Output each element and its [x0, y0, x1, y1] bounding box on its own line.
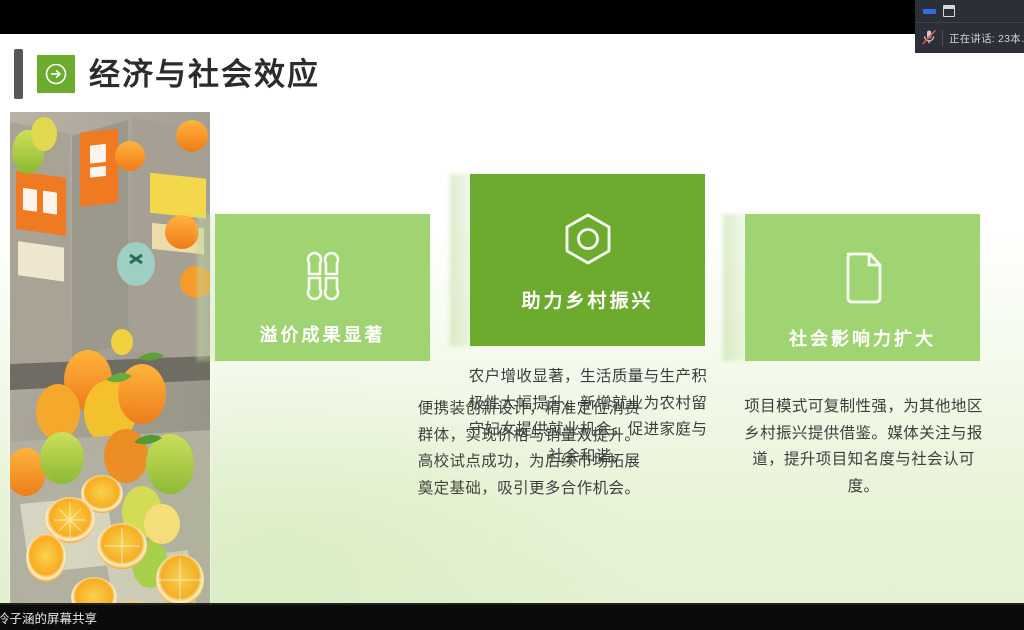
document-page-icon — [835, 248, 891, 308]
shared-screen: 经济与社会效应 — [0, 0, 1024, 630]
card-rural-revitalization[interactable]: 助力乡村振兴 农户增收显著，生活质量与生产积极性大幅提升。新增就业为农村留守妇女… — [470, 174, 705, 346]
card-body-text: 项目模式可复制性强，为其他地区乡村振兴提供借鉴。媒体关注与报道，提升项目知名度与… — [740, 394, 987, 501]
hexagon-gear-icon — [557, 208, 619, 270]
card-title: 社会影响力扩大 — [789, 330, 936, 350]
effect-cards: 溢价成果显著 便携装创新设计，精准定位消费群体，实现价格与销量双提升。高校试点成… — [0, 34, 1024, 605]
screen-share-label: 冷子涵的屏幕共享 — [0, 608, 97, 627]
arrow-right-circle-icon — [37, 55, 75, 93]
top-letterbox-band — [0, 0, 1024, 34]
heading-accent-bar — [14, 49, 23, 99]
slide-heading: 经济与社会效应 — [14, 49, 320, 99]
card-title: 助力乡村振兴 — [521, 292, 653, 313]
minimize-icon[interactable] — [923, 9, 936, 14]
four-leaf-clover-icon — [295, 248, 351, 304]
card-premium-results[interactable]: 溢价成果显著 便携装创新设计，精准定位消费群体，实现价格与销量双提升。高校试点成… — [215, 214, 430, 361]
meeting-floating-panel[interactable]: 正在讲话: 23本… — [915, 0, 1024, 53]
microphone-muted-icon[interactable] — [922, 29, 936, 48]
card-social-impact[interactable]: 社会影响力扩大 项目模式可复制性强，为其他地区乡村振兴提供借鉴。媒体关注与报道，… — [745, 214, 980, 361]
speaking-status-text: 正在讲话: 23本… — [949, 31, 1024, 46]
screen-share-status-bar: 冷子涵的屏幕共享 — [0, 605, 1024, 630]
floating-panel-titlebar[interactable] — [915, 0, 1024, 22]
card-body-text: 农户增收显著，生活质量与生产积极性大幅提升。新增就业为农村留守妇女提供就业机会，… — [463, 364, 713, 471]
page-title: 经济与社会效应 — [89, 59, 320, 90]
card-title: 溢价成果显著 — [260, 326, 386, 346]
status-divider — [942, 30, 943, 46]
hamburger-menu-icon[interactable] — [962, 5, 975, 17]
presentation-slide: 经济与社会效应 — [0, 34, 1024, 605]
restore-window-icon[interactable] — [943, 5, 955, 17]
speaking-status-row[interactable]: 正在讲话: 23本… — [915, 22, 1024, 53]
